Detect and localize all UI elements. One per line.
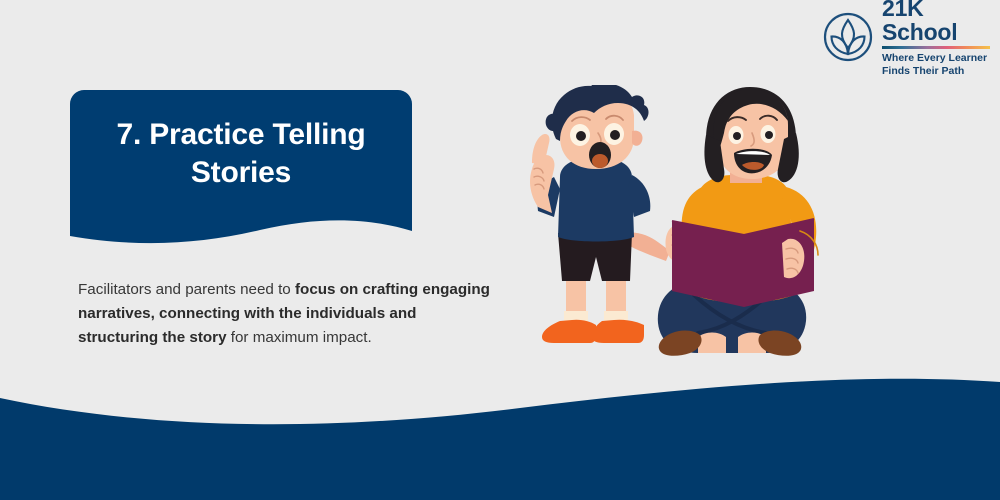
body-paragraph: Facilitators and parents need to focus o… bbox=[78, 278, 496, 350]
boy-left-shoe bbox=[542, 320, 596, 343]
lotus-in-circle-icon bbox=[822, 11, 874, 63]
bottom-wave-decoration bbox=[0, 360, 1000, 500]
boy-pupil-right bbox=[610, 130, 620, 140]
body-lead-text: Facilitators and parents need to bbox=[78, 281, 295, 298]
boy-character bbox=[530, 85, 670, 343]
woman-pupil-left bbox=[733, 132, 741, 140]
body-tail-text: for maximum impact. bbox=[227, 329, 372, 346]
bottom-wave-shape bbox=[0, 379, 1000, 500]
boy-pupil-left bbox=[576, 131, 586, 141]
boy-ear bbox=[632, 131, 643, 146]
woman-character bbox=[658, 87, 818, 356]
woman-left-foot bbox=[698, 333, 726, 354]
logo-name: 21K School bbox=[882, 0, 992, 44]
slide-canvas: 21K School Where Every Learner Finds The… bbox=[0, 0, 1000, 500]
boy-hair-tuft-left bbox=[546, 114, 558, 131]
woman-pupil-right bbox=[765, 131, 773, 139]
boy-shirt bbox=[558, 157, 634, 242]
brand-logo[interactable]: 21K School Where Every Learner Finds The… bbox=[822, 8, 992, 66]
boy-right-shoe bbox=[592, 320, 644, 343]
logo-text-block: 21K School Where Every Learner Finds The… bbox=[882, 0, 992, 78]
characters-illustration bbox=[520, 85, 890, 375]
logo-tagline: Where Every Learner Finds Their Path bbox=[882, 52, 992, 78]
illustration-container bbox=[520, 85, 890, 375]
page-title: 7. Practice Telling Stories bbox=[70, 116, 412, 192]
boy-tongue bbox=[592, 154, 608, 168]
logo-gradient-rule bbox=[882, 46, 990, 49]
title-card: 7. Practice Telling Stories bbox=[70, 90, 412, 250]
